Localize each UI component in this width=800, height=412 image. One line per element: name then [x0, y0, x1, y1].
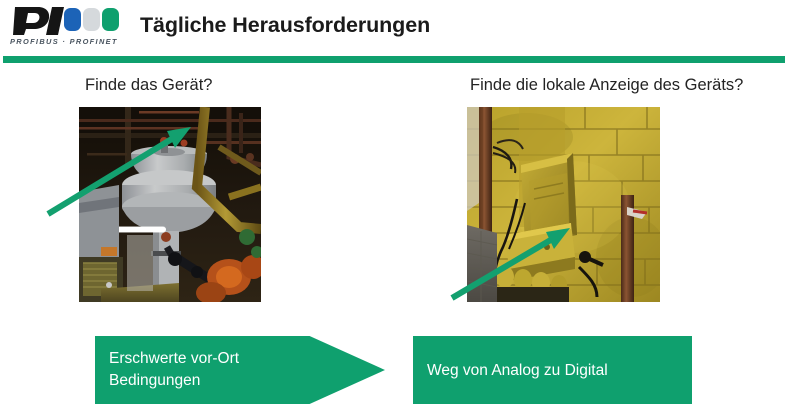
pi-logo-mark	[8, 4, 120, 38]
callout-banner-left: Erschwerte vor-Ort Bedingungen	[95, 336, 385, 404]
photo-left-device-overview	[79, 107, 261, 302]
column-caption-left: Finde das Gerät?	[85, 76, 213, 95]
callout-banner-right: Weg von Analog zu Digital	[413, 336, 692, 404]
slide-header: PROFIBUS · PROFINET Tägliche Herausforde…	[0, 0, 800, 58]
logo-subtitle: PROFIBUS · PROFINET	[10, 37, 118, 46]
callout-left-line-2: Bedingungen	[109, 370, 309, 392]
header-divider	[3, 56, 785, 63]
industrial-plant-vessel-photo	[79, 107, 261, 302]
photo-right-local-display	[467, 107, 660, 302]
callout-banner-right-text: Weg von Analog zu Digital	[427, 360, 677, 382]
pi-profibus-profinet-logo: PROFIBUS · PROFINET	[8, 4, 120, 48]
callout-left-line-1: Erschwerte vor-Ort	[109, 348, 309, 370]
column-caption-right: Finde die lokale Anzeige des Geräts?	[470, 76, 743, 95]
page-title: Tägliche Herausforderungen	[140, 13, 430, 38]
callout-right-line-1: Weg von Analog zu Digital	[427, 360, 677, 382]
yellow-painted-field-device-photo	[467, 107, 660, 302]
callout-banner-left-text: Erschwerte vor-Ort Bedingungen	[109, 348, 309, 392]
